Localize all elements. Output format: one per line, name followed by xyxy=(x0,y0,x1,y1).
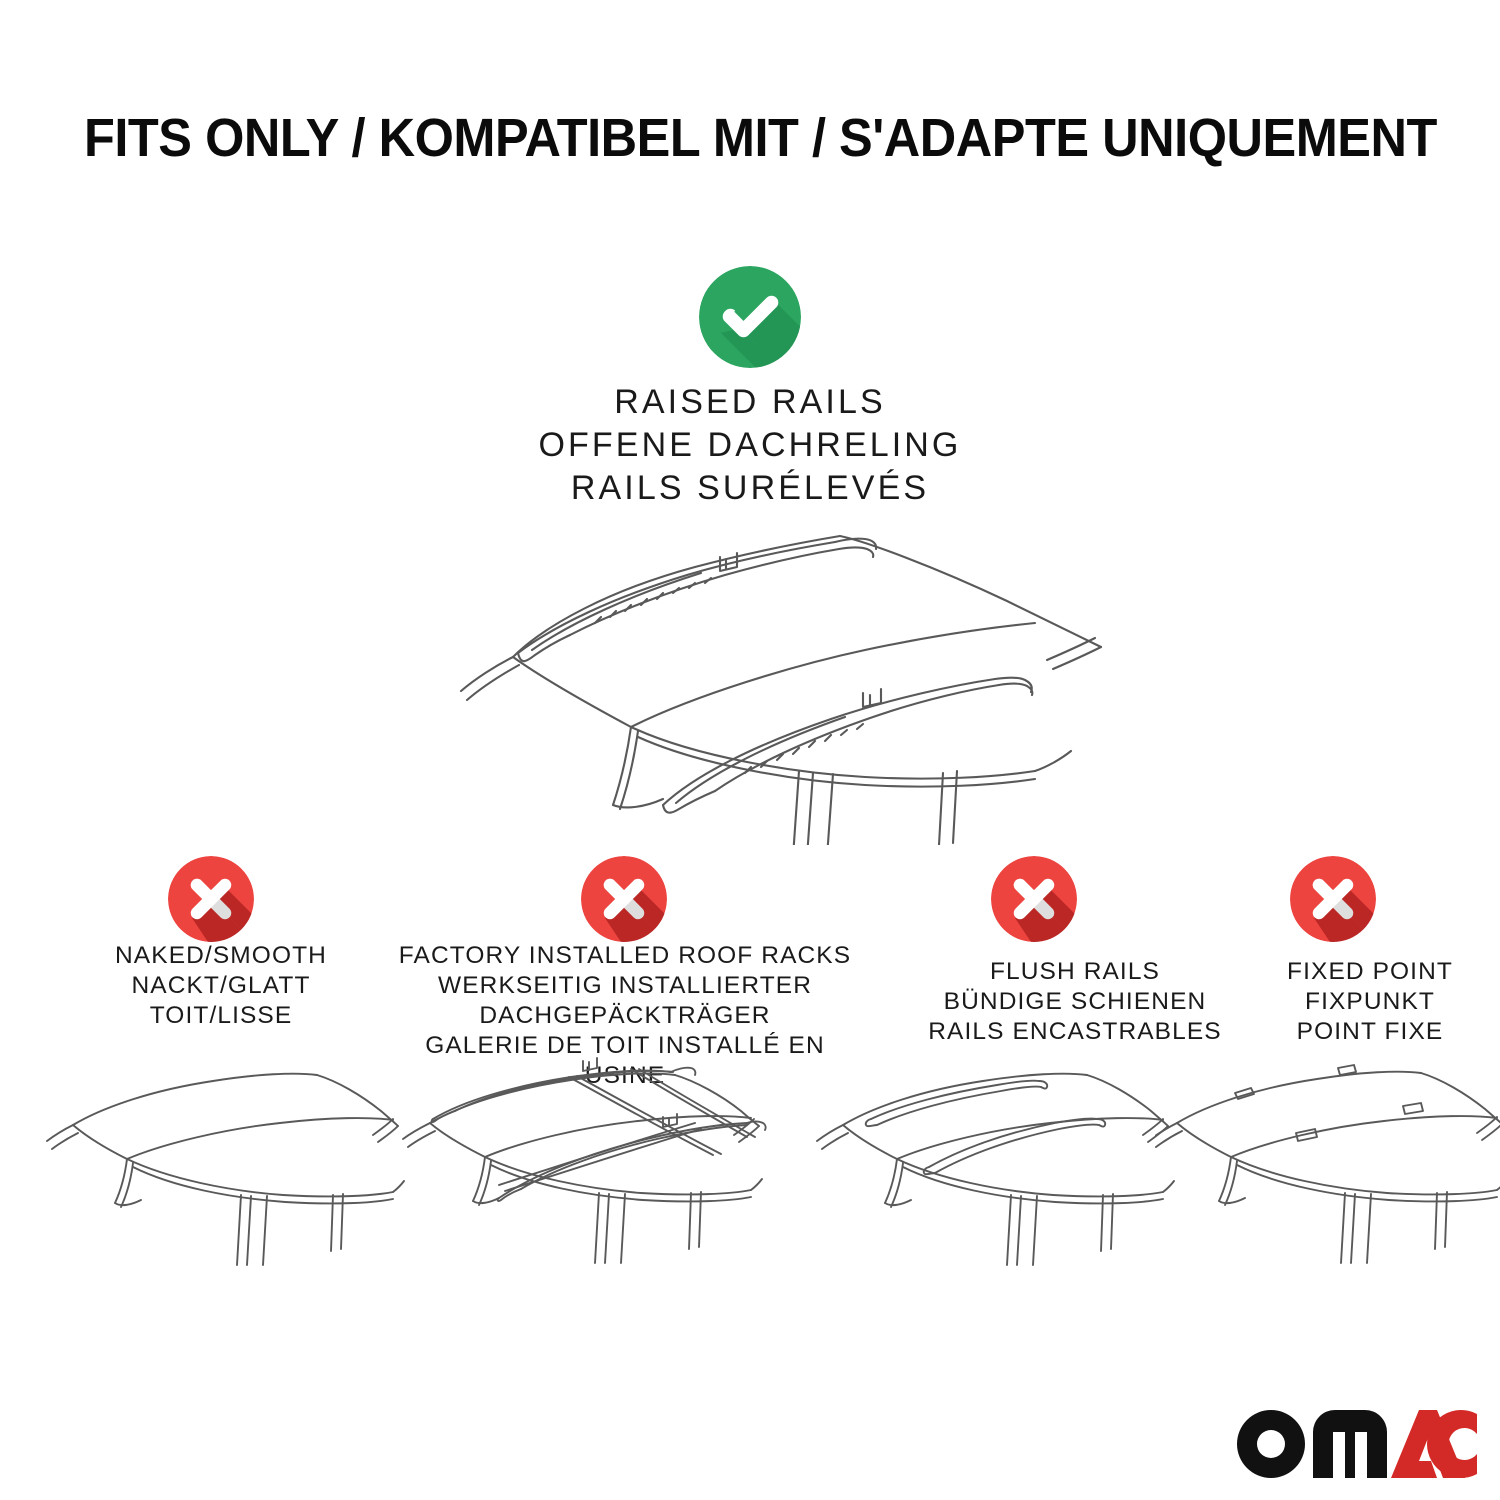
car-roof-fixed-point-illustration xyxy=(1155,1055,1500,1295)
incompatible-label-line: POINT FIXE xyxy=(1230,1017,1500,1047)
compatible-label-line: OFFENE DACHRELING xyxy=(430,424,1070,467)
incompatible-label-line: RAILS ENCASTRABLES xyxy=(855,1017,1295,1047)
car-roof-naked-smooth-illustration xyxy=(45,1055,405,1295)
fitment-compatibility-page: FITS ONLY / KOMPATIBEL MIT / S'ADAPTE UN… xyxy=(0,0,1500,1500)
incompatible-label-line: TOIT/LISSE xyxy=(36,1001,406,1031)
page-title: FITS ONLY / KOMPATIBEL MIT / S'ADAPTE UN… xyxy=(84,108,1337,168)
green-check-icon xyxy=(699,266,801,373)
car-roof-raised-rails-illustration xyxy=(395,505,1115,845)
car-roof-factory-roof-racks-illustration xyxy=(395,1055,775,1295)
incompatible-label-line: FLUSH RAILS xyxy=(855,957,1295,987)
incompatible-label-fixed-point: FIXED POINT FIXPUNKT POINT FIXE xyxy=(1230,957,1500,1047)
car-roof-flush-rails-illustration xyxy=(815,1055,1175,1295)
red-x-icon xyxy=(1290,856,1376,947)
red-x-icon xyxy=(581,856,667,947)
incompatible-label-line: NAKED/SMOOTH xyxy=(36,941,406,971)
red-x-icon xyxy=(168,856,254,947)
omac-logo xyxy=(1237,1408,1477,1480)
incompatible-label-flush-rails: FLUSH RAILS BÜNDIGE SCHIENEN RAILS ENCAS… xyxy=(855,957,1295,1047)
compatible-label: RAISED RAILS OFFENE DACHRELING RAILS SUR… xyxy=(430,381,1070,510)
compatible-label-line: RAISED RAILS xyxy=(430,381,1070,424)
incompatible-label-line: NACKT/GLATT xyxy=(36,971,406,1001)
incompatible-label-line: FIXED POINT xyxy=(1230,957,1500,987)
red-x-icon xyxy=(991,856,1077,947)
compatible-label-line: RAILS SURÉLEVÉS xyxy=(430,467,1070,510)
incompatible-label-naked-smooth: NAKED/SMOOTH NACKT/GLATT TOIT/LISSE xyxy=(36,941,406,1031)
incompatible-label-line: BÜNDIGE SCHIENEN xyxy=(855,987,1295,1017)
incompatible-label-line: WERKSEITIG INSTALLIERTER xyxy=(385,971,865,1001)
incompatible-label-line: FIXPUNKT xyxy=(1230,987,1500,1017)
incompatible-label-line: FACTORY INSTALLED ROOF RACKS xyxy=(385,941,865,971)
incompatible-label-line: DACHGEPÄCKTRÄGER xyxy=(385,1001,865,1031)
